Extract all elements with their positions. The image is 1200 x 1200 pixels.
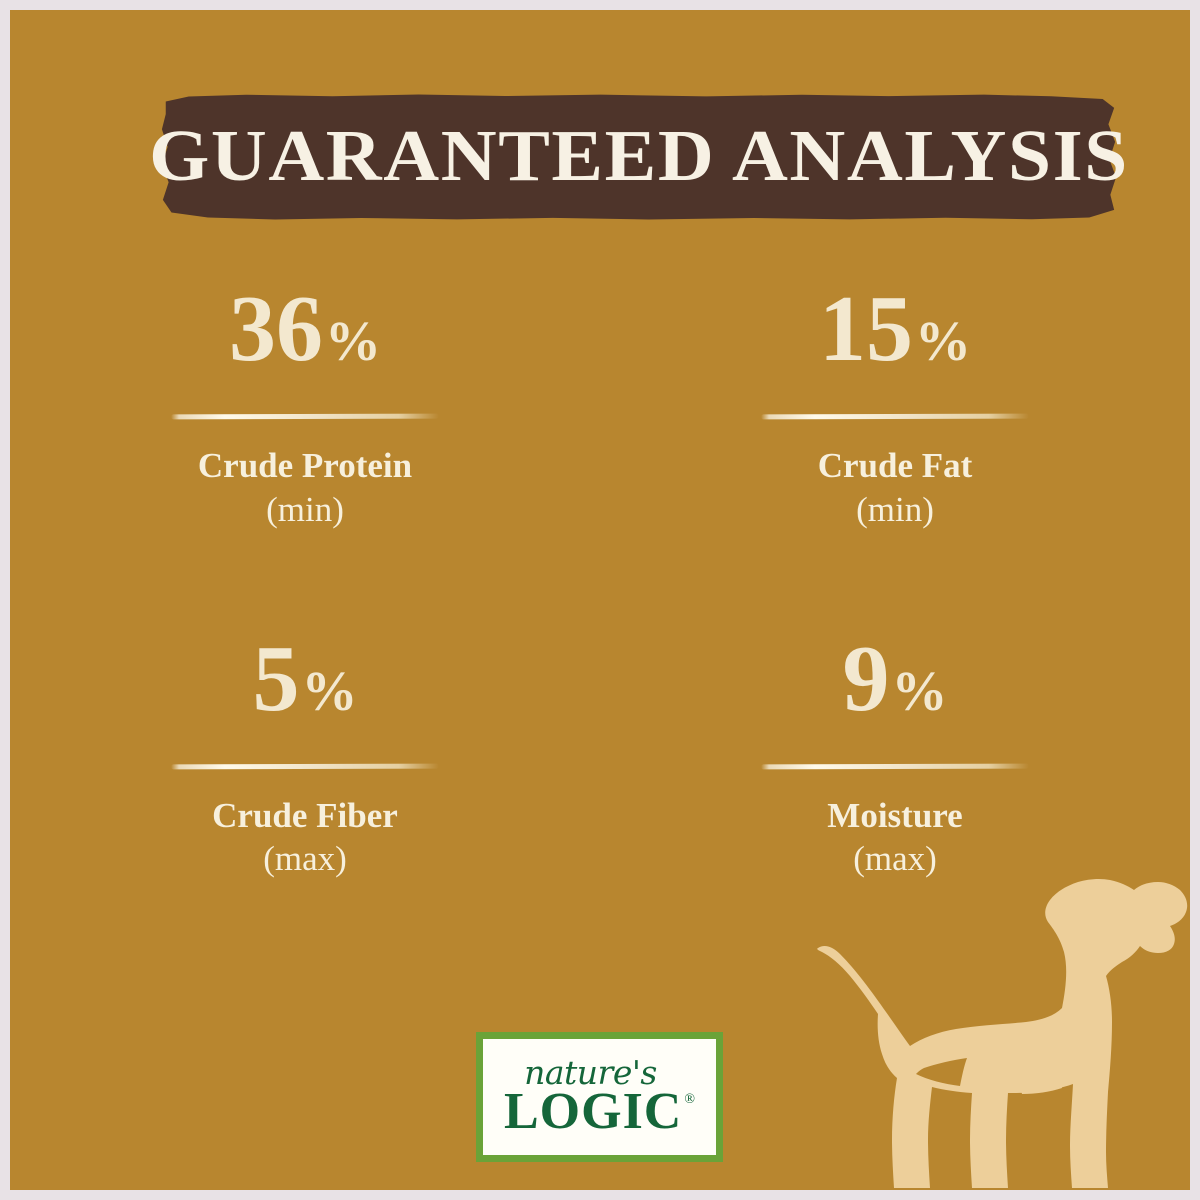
stat-value-group: 15% [819,282,971,386]
stat-value-group: 5% [253,632,358,736]
stat-crude-fiber: 5% Crude Fiber (max) [10,632,600,882]
stat-divider [761,763,1029,769]
page-title: GUARANTEED ANALYSIS [131,94,1146,220]
stat-label: Crude Fat [818,444,973,488]
registered-trademark-icon: ® [684,1093,695,1107]
stat-label: Crude Fiber [212,794,398,838]
stat-qualifier: (max) [263,837,347,881]
stat-number: 5 [253,632,300,726]
percent-sign: % [892,664,948,720]
stat-number: 15 [819,282,913,376]
stat-value-group: 9% [843,632,948,736]
stat-divider [171,763,439,769]
stat-value-group: 36% [229,282,381,386]
percent-sign: % [302,664,358,720]
brand-logo[interactable]: nature's LOGIC ® [476,1032,723,1162]
stat-moisture: 9% Moisture (max) [600,632,1190,882]
stat-qualifier: (min) [266,488,344,532]
dog-silhouette-icon [810,860,1190,1190]
analysis-stats-grid: 36% Crude Protein (min) 15% Crude Fat (m… [10,282,1190,881]
stat-number: 9 [843,632,890,726]
brand-wordmark: LOGIC [504,1087,682,1136]
stat-qualifier: (min) [856,488,934,532]
stat-crude-protein: 36% Crude Protein (min) [10,282,600,532]
stat-label: Crude Protein [198,444,412,488]
guaranteed-analysis-panel: GUARANTEED ANALYSIS 36% Crude Protein (m… [10,10,1190,1190]
stat-divider [761,414,1029,420]
stat-crude-fat: 15% Crude Fat (min) [600,282,1190,532]
stat-label: Moisture [827,794,962,838]
percent-sign: % [915,314,971,370]
banner: GUARANTEED ANALYSIS [160,94,1118,220]
brand-wordmark-row: LOGIC ® [504,1087,695,1136]
brand-logo-inner: nature's LOGIC ® [483,1039,716,1155]
stat-number: 36 [229,282,323,376]
stat-divider [171,414,439,420]
percent-sign: % [325,314,381,370]
